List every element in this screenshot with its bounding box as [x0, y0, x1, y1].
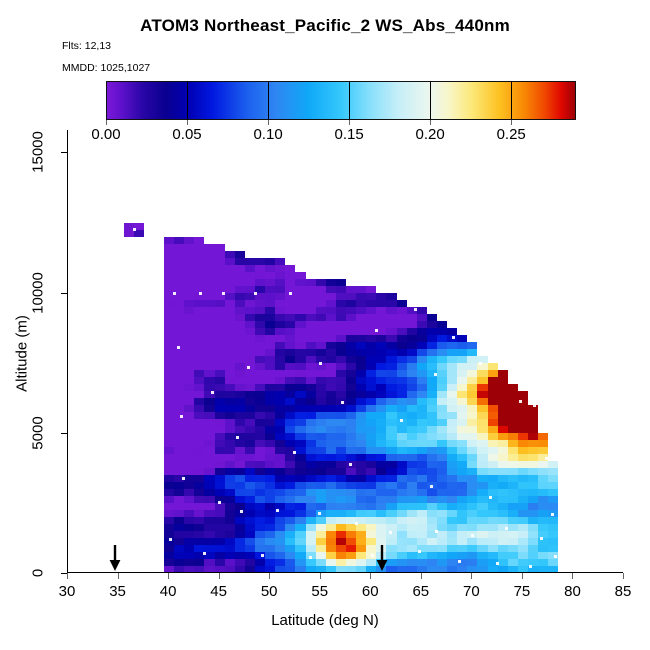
- x-axis-tick: [168, 573, 169, 579]
- x-axis-tick-label: 45: [210, 583, 227, 600]
- x-axis-tick-label: 55: [311, 583, 328, 600]
- y-axis-title: Altitude (m): [14, 254, 31, 454]
- x-axis-tick: [522, 573, 523, 579]
- x-axis-tick: [219, 573, 220, 579]
- x-axis-tick: [118, 573, 119, 579]
- y-axis-tick-label: 0: [30, 569, 47, 577]
- y-axis-tick: [61, 152, 67, 153]
- y-axis-tick-label: 5000: [30, 416, 47, 449]
- x-axis-tick-label: 80: [564, 583, 581, 600]
- x-axis-tick: [572, 573, 573, 579]
- x-axis-line: [67, 572, 623, 573]
- colorbar-tick-line: [511, 81, 512, 120]
- flight-marker-1: [108, 545, 122, 571]
- colorbar-tick: [349, 120, 350, 125]
- flight-marker-2: [375, 545, 389, 571]
- colorbar-tick: [268, 120, 269, 125]
- colorbar-tick: [511, 120, 512, 125]
- x-axis-tick: [623, 573, 624, 579]
- colorbar-tick: [430, 120, 431, 125]
- colorbar-tick-line: [187, 81, 188, 120]
- colorbar: 0.000.050.100.150.200.25: [106, 81, 576, 120]
- x-axis-tick-label: 85: [615, 583, 632, 600]
- y-axis-tick: [61, 573, 67, 574]
- colorbar-tick-lines: [106, 81, 576, 120]
- x-axis-tick-label: 30: [59, 583, 76, 600]
- x-axis-tick: [320, 573, 321, 579]
- x-axis-tick: [269, 573, 270, 579]
- x-axis-tick-label: 50: [261, 583, 278, 600]
- colorbar-tick-line: [268, 81, 269, 120]
- colorbar-tick-line: [430, 81, 431, 120]
- y-axis-line: [67, 130, 68, 573]
- x-axis-title: Latitude (deg N): [0, 612, 650, 629]
- colorbar-tick-line: [349, 81, 350, 120]
- colorbar-tick: [106, 120, 107, 125]
- flights-annotation: Flts: 12,13: [62, 40, 111, 52]
- x-axis-tick-label: 60: [362, 583, 379, 600]
- heatmap-canvas: [67, 130, 623, 573]
- x-axis-tick: [421, 573, 422, 579]
- x-axis-tick: [370, 573, 371, 579]
- x-axis-tick-label: 35: [109, 583, 126, 600]
- heatmap-data-area: [67, 130, 623, 573]
- mmdd-annotation: MMDD: 1025,1027: [62, 62, 150, 74]
- y-axis-tick: [61, 433, 67, 434]
- y-axis-tick: [61, 293, 67, 294]
- y-axis-tick-label: 15000: [30, 132, 47, 174]
- x-axis-tick-label: 70: [463, 583, 480, 600]
- x-axis-tick-label: 65: [412, 583, 429, 600]
- x-axis-tick-label: 40: [160, 583, 177, 600]
- y-axis-tick-label: 10000: [30, 272, 47, 314]
- x-axis-tick: [471, 573, 472, 579]
- x-axis-tick: [67, 573, 68, 579]
- page-title: ATOM3 Northeast_Pacific_2 WS_Abs_440nm: [0, 16, 650, 36]
- x-axis-tick-label: 75: [514, 583, 531, 600]
- colorbar-tick: [187, 120, 188, 125]
